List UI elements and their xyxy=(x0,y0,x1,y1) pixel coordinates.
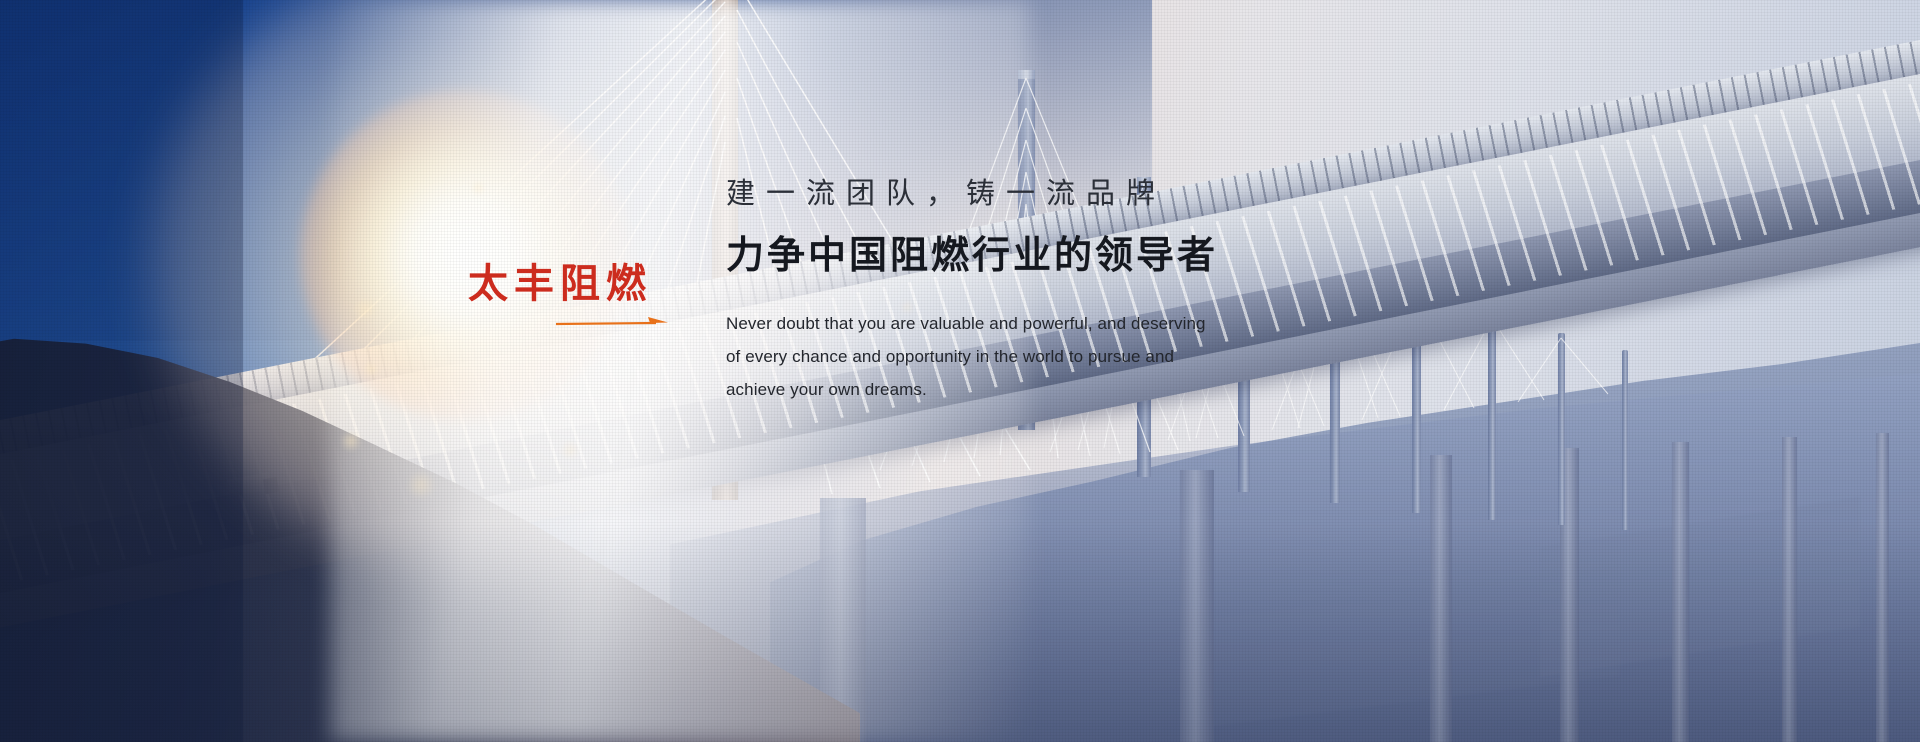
headline-subtitle: 建一流团队，铸一流品牌 xyxy=(726,180,1426,209)
headline-title: 力争中国阻燃行业的领导者 xyxy=(726,237,1426,275)
arrow-right-icon xyxy=(556,316,668,330)
english-line-3: achieve your own dreams. xyxy=(726,373,1306,406)
headline-block: 建一流团队，铸一流品牌 力争中国阻燃行业的领导者 Never doubt tha… xyxy=(726,180,1426,406)
brand-logo[interactable]: 太丰阻燃 xyxy=(468,264,668,304)
english-line-2: of every chance and opportunity in the w… xyxy=(726,340,1306,373)
brand-logo-text: 太丰阻燃 xyxy=(468,264,668,304)
banner-content: 太丰阻燃 建一流团队，铸一流品牌 力争中国阻燃行业的领导者 Never doub… xyxy=(0,0,1920,742)
english-line-1: Never doubt that you are valuable and po… xyxy=(726,307,1306,340)
hero-banner: 太丰阻燃 建一流团队，铸一流品牌 力争中国阻燃行业的领导者 Never doub… xyxy=(0,0,1920,742)
headline-english-paragraph: Never doubt that you are valuable and po… xyxy=(726,307,1306,406)
